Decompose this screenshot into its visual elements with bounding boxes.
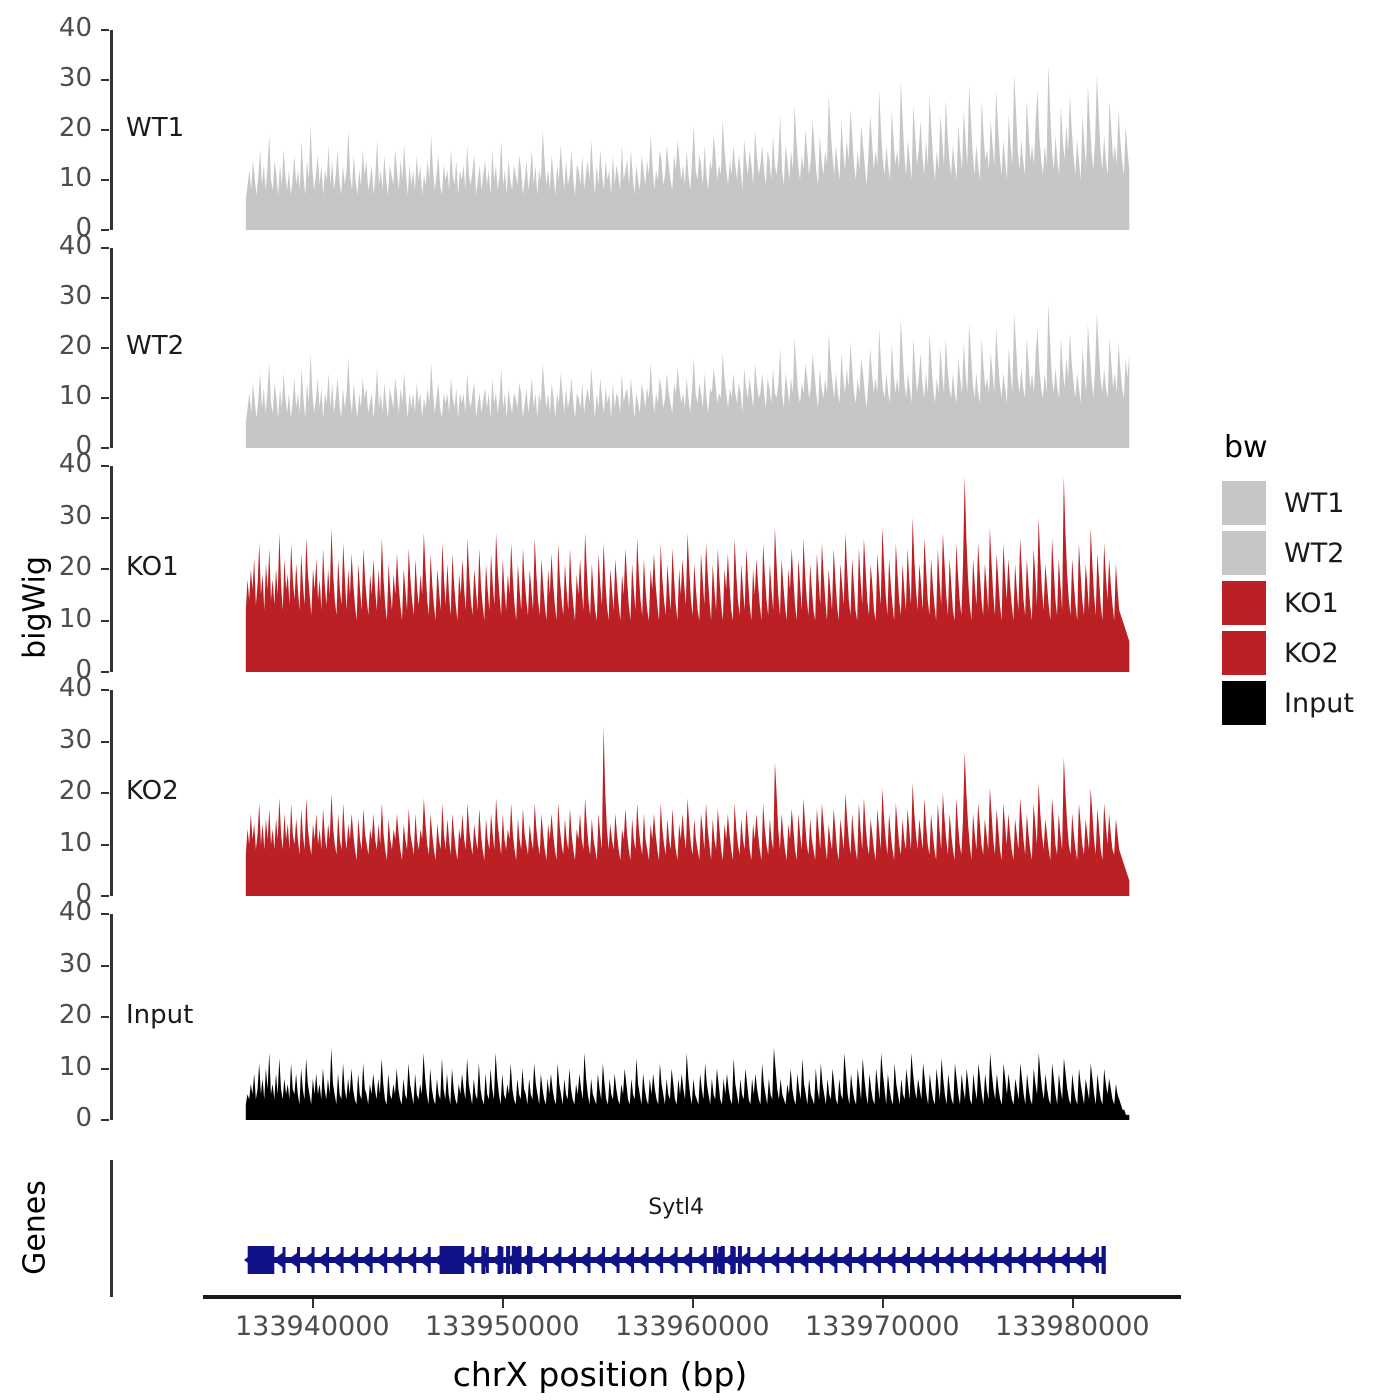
strand-arrow bbox=[273, 1247, 286, 1273]
gene-exon[interactable] bbox=[713, 1246, 717, 1274]
strand-arrow bbox=[927, 1247, 940, 1273]
strand-arrow bbox=[970, 1247, 983, 1273]
legend-color-swatch bbox=[1222, 531, 1266, 575]
gene-exon[interactable] bbox=[512, 1246, 516, 1274]
strand-arrow bbox=[360, 1247, 373, 1273]
strand-arrow bbox=[636, 1247, 649, 1273]
strand-arrow bbox=[651, 1247, 664, 1273]
track-panel-wt1[interactable]: 010203040WT1 bbox=[0, 30, 1200, 236]
strand-arrow bbox=[839, 1247, 852, 1273]
gene-exon[interactable] bbox=[440, 1246, 465, 1274]
gene-exon[interactable] bbox=[518, 1246, 522, 1274]
coverage-area-ko2 bbox=[0, 690, 1200, 900]
strand-arrow bbox=[317, 1247, 330, 1273]
strand-arrow bbox=[912, 1247, 925, 1273]
gene-track-panel[interactable]: Sytl4 bbox=[0, 1155, 1200, 1300]
x-tick-label: 133970000 bbox=[805, 1311, 960, 1342]
strand-arrow bbox=[796, 1247, 809, 1273]
gene-exon[interactable] bbox=[506, 1246, 510, 1274]
strand-arrow bbox=[534, 1247, 547, 1273]
x-tick-label: 133950000 bbox=[425, 1311, 580, 1342]
strand-arrow bbox=[622, 1247, 635, 1273]
legend-item-label: KO1 bbox=[1284, 588, 1339, 619]
strand-arrow bbox=[563, 1247, 576, 1273]
legend-item-label: Input bbox=[1284, 688, 1354, 719]
gene-exon[interactable] bbox=[738, 1246, 742, 1274]
legend-item-label: KO2 bbox=[1284, 638, 1339, 669]
strand-arrow bbox=[985, 1247, 998, 1273]
strand-arrow bbox=[578, 1247, 591, 1273]
gene-exon[interactable] bbox=[248, 1246, 275, 1274]
strand-arrow bbox=[752, 1247, 765, 1273]
strand-arrow bbox=[331, 1247, 344, 1273]
gene-exon[interactable] bbox=[730, 1246, 734, 1274]
legend-item-input[interactable]: Input bbox=[1222, 679, 1400, 727]
gene-model[interactable] bbox=[0, 1155, 1200, 1300]
strand-arrow bbox=[956, 1247, 969, 1273]
coverage-area-wt1 bbox=[0, 30, 1200, 234]
strand-arrow bbox=[825, 1247, 838, 1273]
gene-exon[interactable] bbox=[527, 1246, 531, 1274]
gene-end-tick bbox=[1102, 1246, 1106, 1274]
track-panel-wt2[interactable]: 010203040WT2 bbox=[0, 248, 1200, 454]
x-axis-title: chrX position (bp) bbox=[0, 1355, 1200, 1394]
strand-arrow bbox=[694, 1247, 707, 1273]
strand-arrow bbox=[1086, 1247, 1099, 1273]
strand-arrow bbox=[883, 1247, 896, 1273]
strand-arrow bbox=[854, 1247, 867, 1273]
strand-arrow bbox=[1057, 1247, 1070, 1273]
strand-arrow bbox=[404, 1247, 417, 1273]
strand-arrow bbox=[680, 1247, 693, 1273]
coverage-area-wt2 bbox=[0, 248, 1200, 452]
strand-arrow bbox=[941, 1247, 954, 1273]
strand-arrow bbox=[810, 1247, 823, 1273]
legend-title: bw bbox=[1224, 430, 1400, 465]
coverage-area-input bbox=[0, 914, 1200, 1124]
strand-arrow bbox=[549, 1247, 562, 1273]
strand-arrow bbox=[767, 1247, 780, 1273]
legend: bw WT1WT2KO1KO2Input bbox=[1222, 430, 1400, 729]
track-panel-input[interactable]: 010203040Input bbox=[0, 914, 1200, 1126]
strand-arrow bbox=[593, 1247, 606, 1273]
x-axis: 1339400001339500001339600001339700001339… bbox=[0, 1295, 1400, 1400]
x-tick-label: 133940000 bbox=[235, 1311, 390, 1342]
strand-arrow bbox=[607, 1247, 620, 1273]
legend-color-swatch bbox=[1222, 481, 1266, 525]
x-tick bbox=[882, 1299, 884, 1308]
strand-arrow bbox=[1014, 1247, 1027, 1273]
legend-color-swatch bbox=[1222, 681, 1266, 725]
track-panel-ko1[interactable]: 010203040KO1 bbox=[0, 466, 1200, 678]
strand-arrow bbox=[898, 1247, 911, 1273]
legend-item-ko2[interactable]: KO2 bbox=[1222, 629, 1400, 677]
strand-arrow bbox=[781, 1247, 794, 1273]
track-panel-ko2[interactable]: 010203040KO2 bbox=[0, 690, 1200, 902]
strand-arrow bbox=[288, 1247, 301, 1273]
strand-arrow bbox=[346, 1247, 359, 1273]
coverage-area-ko1 bbox=[0, 466, 1200, 676]
x-tick bbox=[1072, 1299, 1074, 1308]
legend-color-swatch bbox=[1222, 581, 1266, 625]
legend-item-wt2[interactable]: WT2 bbox=[1222, 529, 1400, 577]
gene-exon[interactable] bbox=[721, 1246, 725, 1274]
legend-item-label: WT1 bbox=[1284, 488, 1344, 519]
gene-exon[interactable] bbox=[498, 1246, 502, 1274]
strand-arrow bbox=[999, 1247, 1012, 1273]
legend-color-swatch bbox=[1222, 631, 1266, 675]
x-tick bbox=[502, 1299, 504, 1308]
strand-arrow bbox=[389, 1247, 402, 1273]
strand-arrow bbox=[1043, 1247, 1056, 1273]
x-tick bbox=[692, 1299, 694, 1308]
genome-browser-figure: bigWig Genes 010203040WT1010203040WT2010… bbox=[0, 0, 1400, 1400]
strand-arrow bbox=[665, 1247, 678, 1273]
strand-arrow bbox=[375, 1247, 388, 1273]
legend-item-label: WT2 bbox=[1284, 538, 1344, 569]
x-tick bbox=[312, 1299, 314, 1308]
x-tick-label: 133980000 bbox=[995, 1311, 1150, 1342]
gene-exon[interactable] bbox=[481, 1246, 485, 1274]
legend-item-wt1[interactable]: WT1 bbox=[1222, 479, 1400, 527]
strand-arrow bbox=[302, 1247, 315, 1273]
x-tick-label: 133960000 bbox=[615, 1311, 770, 1342]
strand-arrow bbox=[1072, 1247, 1085, 1273]
strand-arrow bbox=[1028, 1247, 1041, 1273]
legend-item-ko1[interactable]: KO1 bbox=[1222, 579, 1400, 627]
legend-items: WT1WT2KO1KO2Input bbox=[1222, 479, 1400, 727]
strand-arrow bbox=[868, 1247, 881, 1273]
strand-arrow bbox=[418, 1247, 431, 1273]
